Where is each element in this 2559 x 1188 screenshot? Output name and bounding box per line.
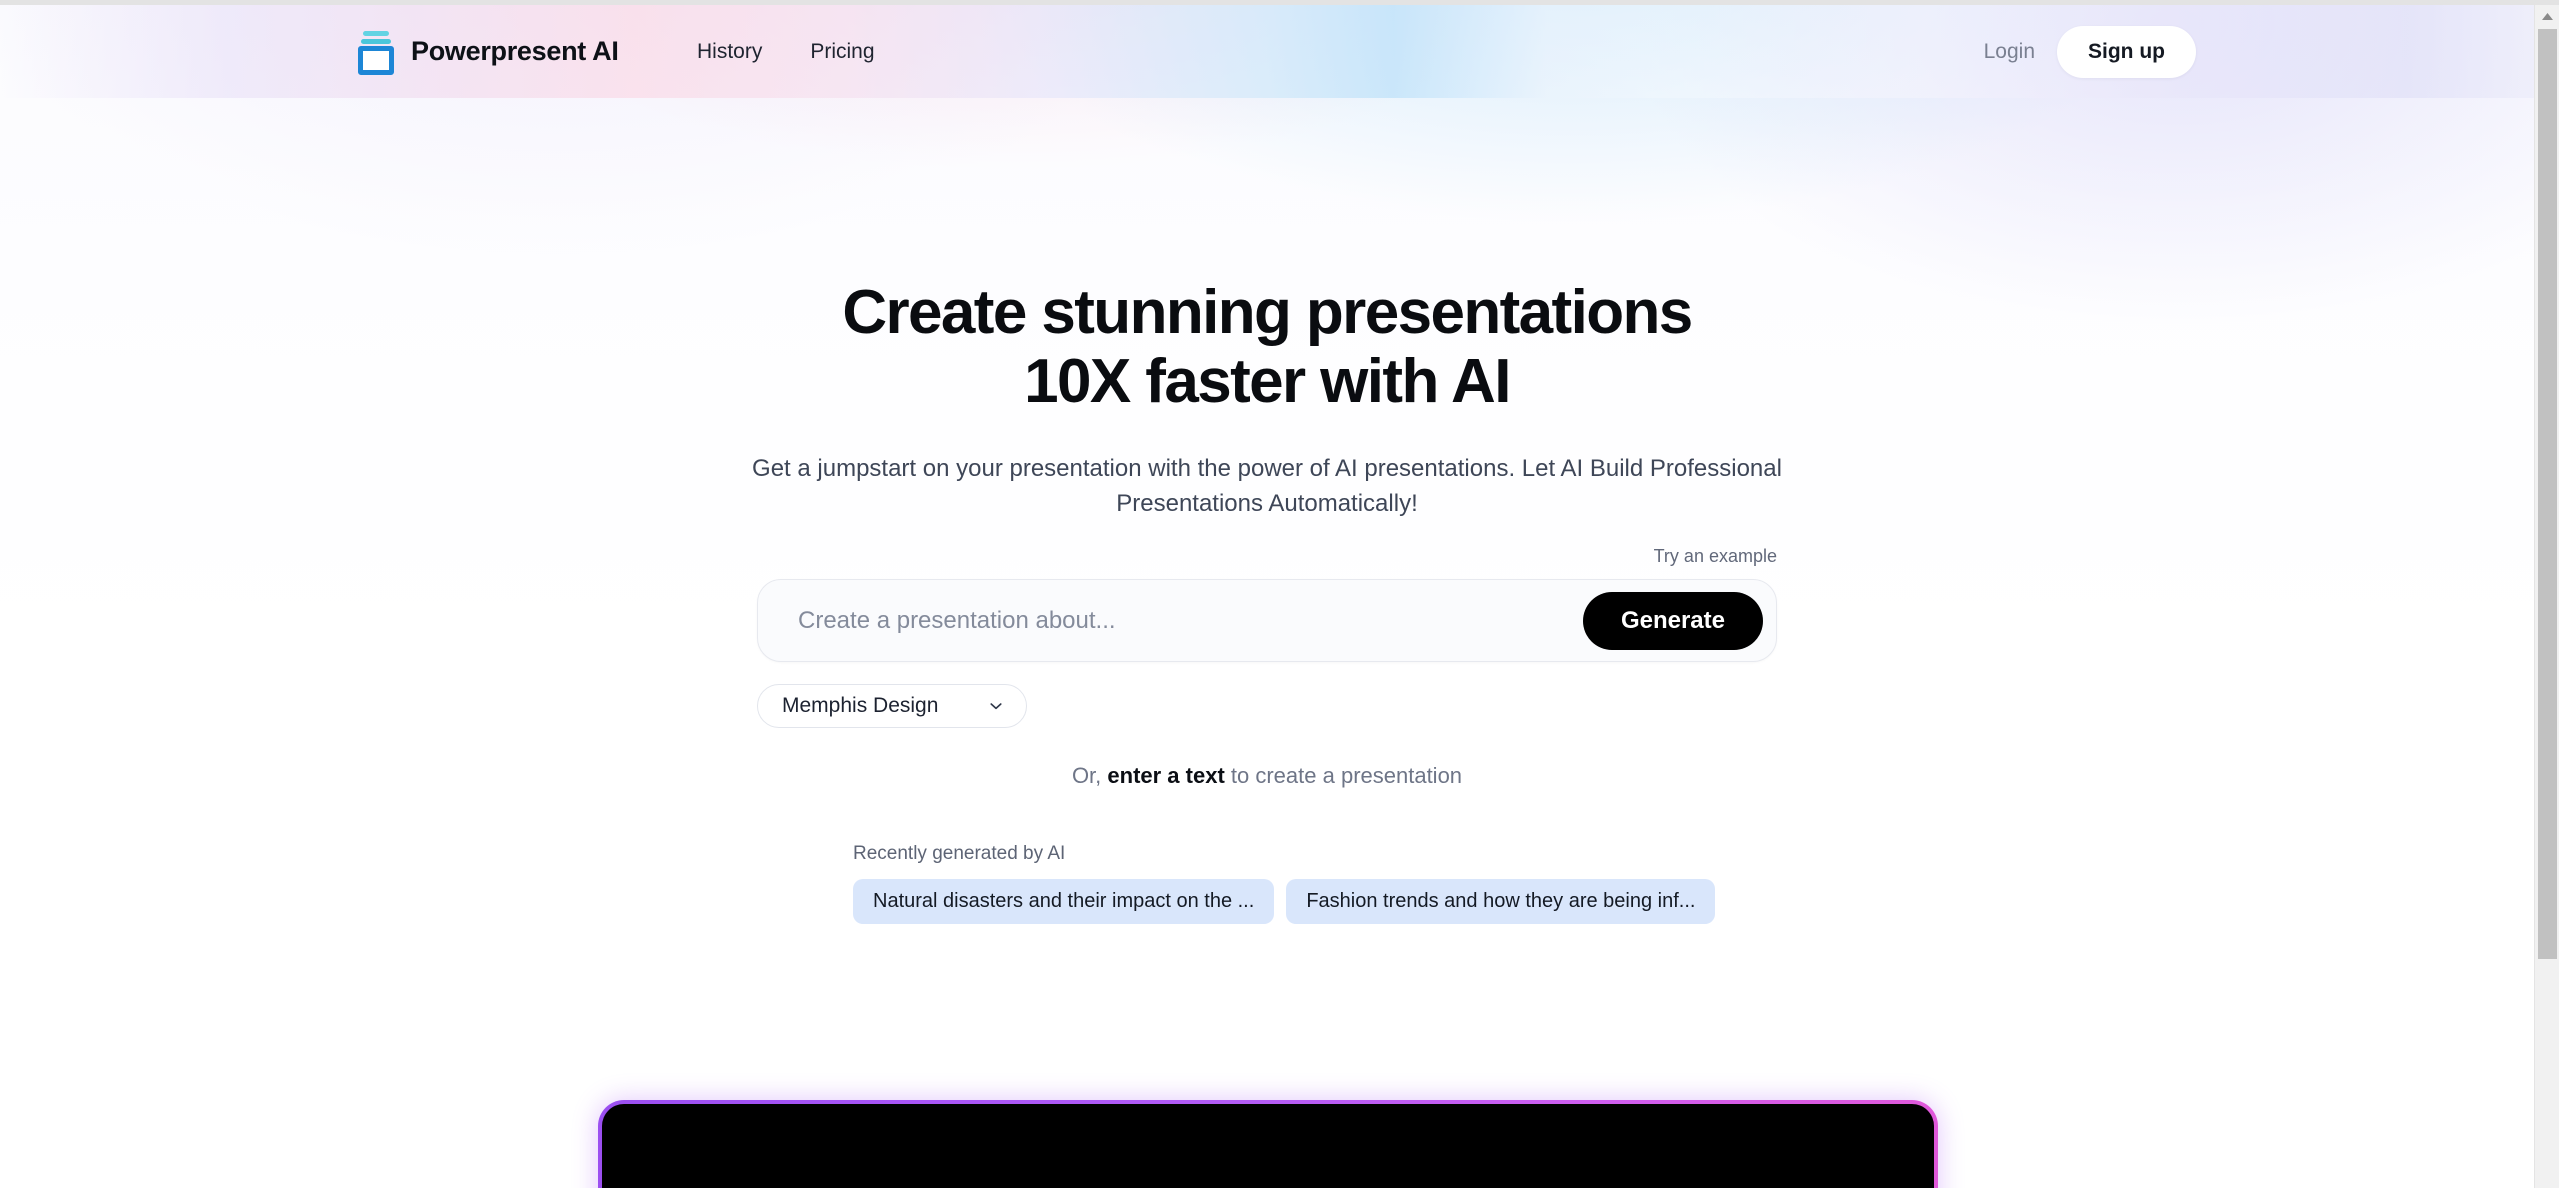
recently-generated-chips: Natural disasters and their impact on th… (853, 879, 1777, 924)
recently-generated-section: Recently generated by AI Natural disaste… (757, 843, 1777, 924)
generate-button[interactable]: Generate (1583, 592, 1763, 650)
nav-link-history[interactable]: History (697, 40, 762, 64)
signup-button[interactable]: Sign up (2057, 26, 2196, 78)
prompt-area: Try an example Generate Memphis Design O… (757, 579, 1777, 789)
enter-a-text-line: Or, enter a text to create a presentatio… (757, 763, 1777, 789)
browser-chrome-strip (0, 0, 2559, 5)
video-preview-screen[interactable] (602, 1104, 1934, 1188)
header-actions: Login Sign up (1984, 26, 2196, 78)
site-header: Powerpresent AI History Pricing Login Si… (0, 5, 2534, 98)
brand-name: Powerpresent AI (411, 36, 619, 67)
scrollbar-thumb[interactable] (2538, 29, 2557, 959)
enter-a-text-link[interactable]: enter a text (1107, 763, 1224, 788)
page-scrollbar[interactable] (2534, 5, 2559, 1188)
try-an-example-link[interactable]: Try an example (1654, 546, 1777, 567)
hero-section: Create stunning presentations 10X faster… (0, 98, 2534, 924)
main-nav: History Pricing (697, 40, 875, 64)
design-style-value: Memphis Design (782, 694, 938, 718)
nav-link-pricing[interactable]: Pricing (810, 40, 874, 64)
page-title: Create stunning presentations 10X faster… (677, 98, 1857, 417)
video-preview-panel[interactable] (598, 1100, 1938, 1188)
presentation-board-icon (356, 29, 396, 75)
chevron-down-icon (988, 698, 1004, 714)
design-style-select[interactable]: Memphis Design (757, 684, 1027, 728)
login-link[interactable]: Login (1984, 40, 2035, 64)
hero-subtitle: Get a jumpstart on your presentation wit… (727, 452, 1807, 522)
recently-generated-label: Recently generated by AI (853, 843, 1777, 865)
header-inner: Powerpresent AI History Pricing Login Si… (0, 5, 2534, 98)
or-prefix: Or, (1072, 763, 1107, 788)
page-title-line-1: Create stunning presentations (677, 278, 1857, 347)
presentation-topic-input[interactable] (798, 580, 1583, 661)
page-title-line-2: 10X faster with AI (677, 347, 1857, 416)
browser-viewport: Powerpresent AI History Pricing Login Si… (0, 0, 2559, 1188)
scroll-up-arrow-icon[interactable] (2535, 5, 2559, 27)
prompt-box: Generate (757, 579, 1777, 662)
recent-chip[interactable]: Natural disasters and their impact on th… (853, 879, 1274, 924)
brand-logo-link[interactable]: Powerpresent AI (356, 29, 619, 75)
page-canvas: Powerpresent AI History Pricing Login Si… (0, 0, 2534, 1188)
or-suffix: to create a presentation (1225, 763, 1462, 788)
recent-chip[interactable]: Fashion trends and how they are being in… (1286, 879, 1715, 924)
